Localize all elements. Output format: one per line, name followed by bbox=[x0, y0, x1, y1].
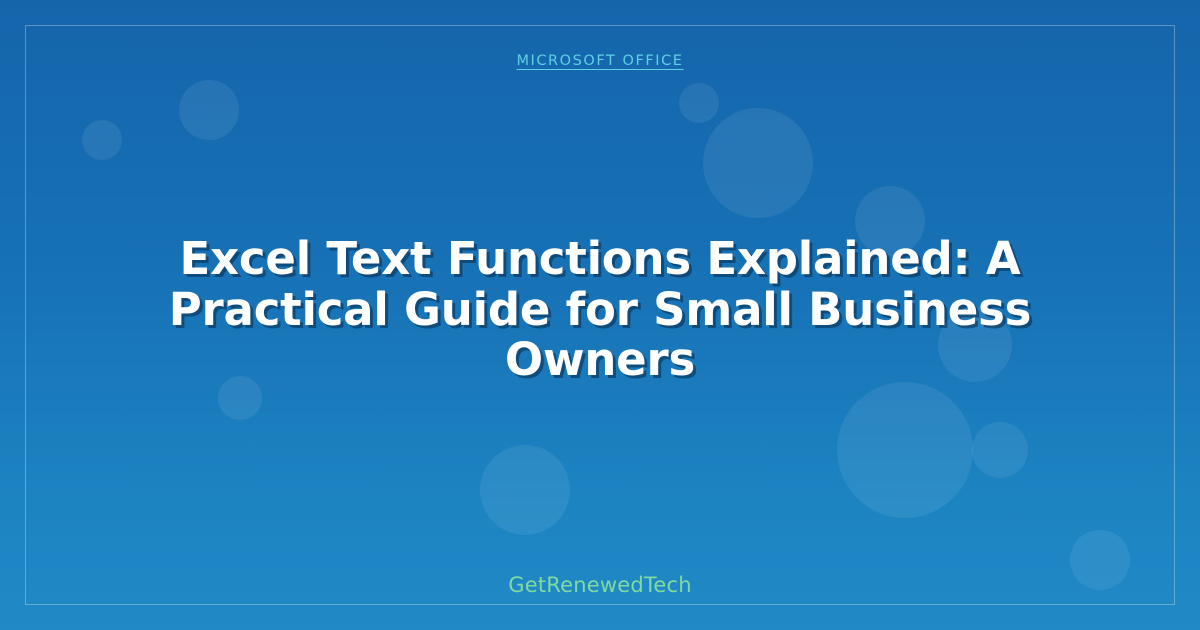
card-content: MICROSOFT OFFICE Excel Text Functions Ex… bbox=[0, 0, 1200, 630]
brand-name: GetRenewedTech bbox=[508, 573, 691, 597]
page-title: Excel Text Functions Explained: A Practi… bbox=[100, 234, 1100, 385]
social-share-card: MICROSOFT OFFICE Excel Text Functions Ex… bbox=[0, 0, 1200, 630]
title-container: Excel Text Functions Explained: A Practi… bbox=[100, 47, 1100, 573]
